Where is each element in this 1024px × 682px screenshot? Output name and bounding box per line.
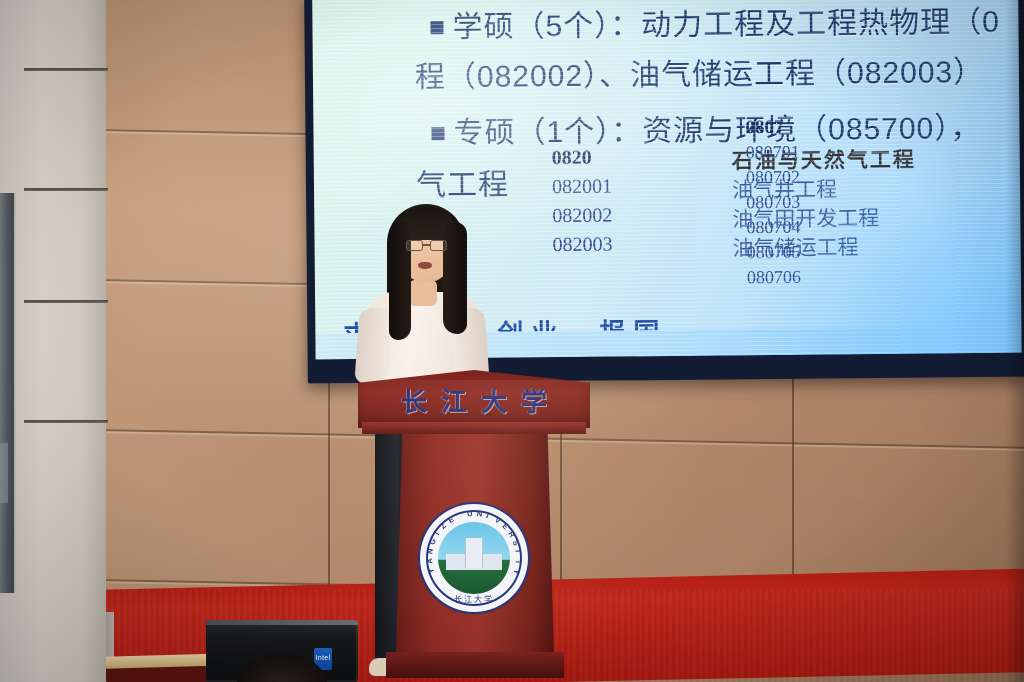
table-cell-code: 080701 (746, 142, 800, 168)
podium-lip (362, 422, 586, 434)
right-edge-shadow (1006, 0, 1024, 682)
slide-bullet-1-text: 学硕（5个）：动力工程及工程热物理（0 (452, 6, 1000, 44)
discipline-code-table: 0820 石油与天然气工程 082001 油气井工程 082002 油气田开发工… (552, 147, 553, 263)
discipline-code-table-right-column: 0807 080701 080702 080703 080704 080705 … (745, 117, 801, 293)
table-cell-code: 0820 (552, 147, 592, 170)
table-cell-code: 082002 (552, 205, 612, 229)
slide-bullet-1: 学硕（5个）：动力工程及工程热物理（0 (430, 0, 1000, 46)
podium-title: 长江大学 (358, 382, 590, 419)
podium: 长江大学 YANGTZE UNIVERSITY 长江大学 (358, 370, 590, 682)
podium-base (386, 652, 564, 678)
pillar-groove (24, 300, 108, 303)
emblem-chinese-name: 长江大学 (420, 594, 528, 605)
pillar-groove (24, 68, 108, 71)
table-cell-code: 080703 (746, 192, 800, 218)
table-cell-code: 080702 (746, 167, 800, 193)
door-handle (0, 443, 8, 503)
table-cell-code: 080706 (747, 267, 801, 293)
table-cell-code: 080705 (747, 242, 801, 268)
speaker-hair-strand-right (443, 222, 467, 334)
table-cell-code: 082001 (552, 176, 612, 200)
bullet-square-icon (431, 127, 444, 140)
monitor-top-edge (206, 620, 358, 625)
door-frame (0, 193, 16, 593)
table-cell-code: 0807 (745, 117, 799, 143)
university-emblem: YANGTZE UNIVERSITY 长江大学 (420, 504, 528, 612)
pillar-groove (24, 188, 108, 191)
speaker-mouth (418, 262, 432, 269)
screenshot-root: 学硕（5个）：动力工程及工程热物理（0 程（082002）、油气储运工程（082… (0, 0, 1024, 682)
glasses-icon (405, 240, 449, 251)
table-cell-code: 080704 (746, 217, 800, 243)
pillar-groove (24, 420, 108, 423)
table-cell-code: 082003 (552, 234, 612, 258)
slide-bullet-1-cont: 程（082002）、油气储运工程（082003） (415, 47, 985, 96)
left-pillar (0, 0, 106, 682)
speaker-neck (409, 280, 437, 306)
bullet-square-icon (430, 21, 443, 34)
